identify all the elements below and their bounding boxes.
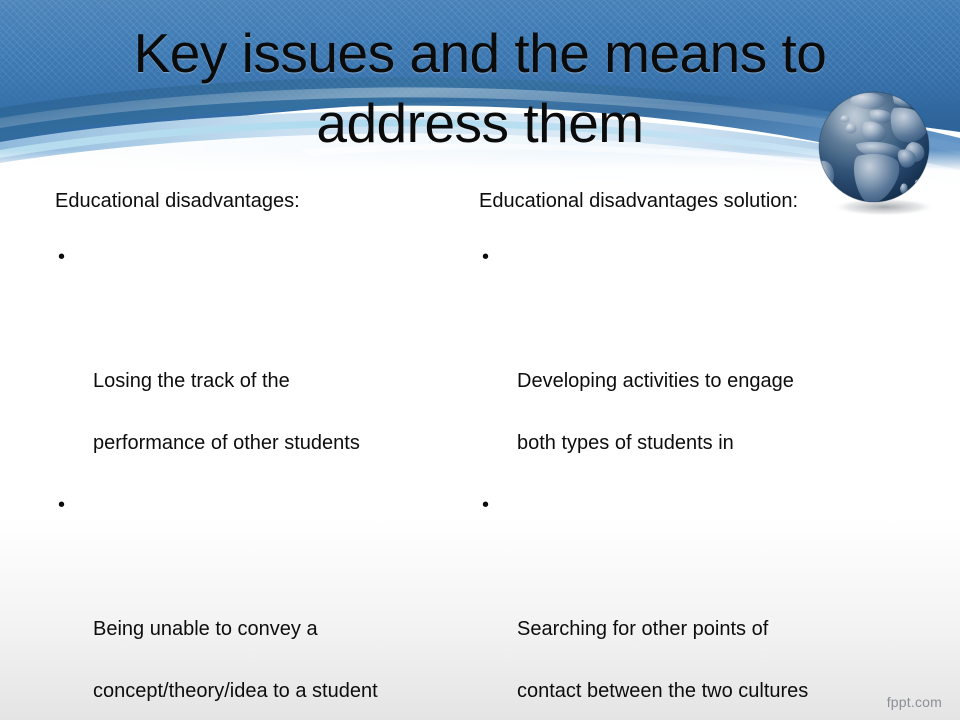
list-item: • Searching for other points of contact … xyxy=(479,474,909,720)
bullet-icon: • xyxy=(58,226,65,288)
presentation-slide: Key issues and the means to address them xyxy=(0,0,960,720)
bullet-icon: • xyxy=(58,474,65,536)
spacer xyxy=(55,214,485,226)
column-right: Educational disadvantages solution: • De… xyxy=(479,188,909,720)
bullet-icon: • xyxy=(482,474,489,536)
column-left: Educational disadvantages: • Losing the … xyxy=(55,188,485,720)
page-title: Key issues and the means to address them xyxy=(40,18,920,158)
list-item: • Losing the track of the performance of… xyxy=(55,226,485,474)
list-item: • Developing activities to engage both t… xyxy=(479,226,909,474)
list-item: • Being unable to convey a concept/theor… xyxy=(55,474,485,720)
slide-body: Educational disadvantages: • Losing the … xyxy=(0,188,960,658)
list-item-text: Developing activities to engage both typ… xyxy=(517,370,794,454)
bullet-list-educational-disadvantages-solution: • Developing activities to engage both t… xyxy=(479,226,909,720)
section-heading-educational-disadvantages: Educational disadvantages: xyxy=(55,188,485,214)
list-item-text: Being unable to convey a concept/theory/… xyxy=(93,618,378,702)
page-title-line-2: address them xyxy=(40,88,920,158)
bullet-list-educational-disadvantages: • Losing the track of the performance of… xyxy=(55,226,485,720)
list-item-text: Searching for other points of contact be… xyxy=(517,618,808,702)
list-item-text: Losing the track of the performance of o… xyxy=(93,370,360,454)
bullet-icon: • xyxy=(482,226,489,288)
page-title-line-1: Key issues and the means to xyxy=(40,18,920,88)
watermark-fppt: fppt.com xyxy=(887,694,942,710)
